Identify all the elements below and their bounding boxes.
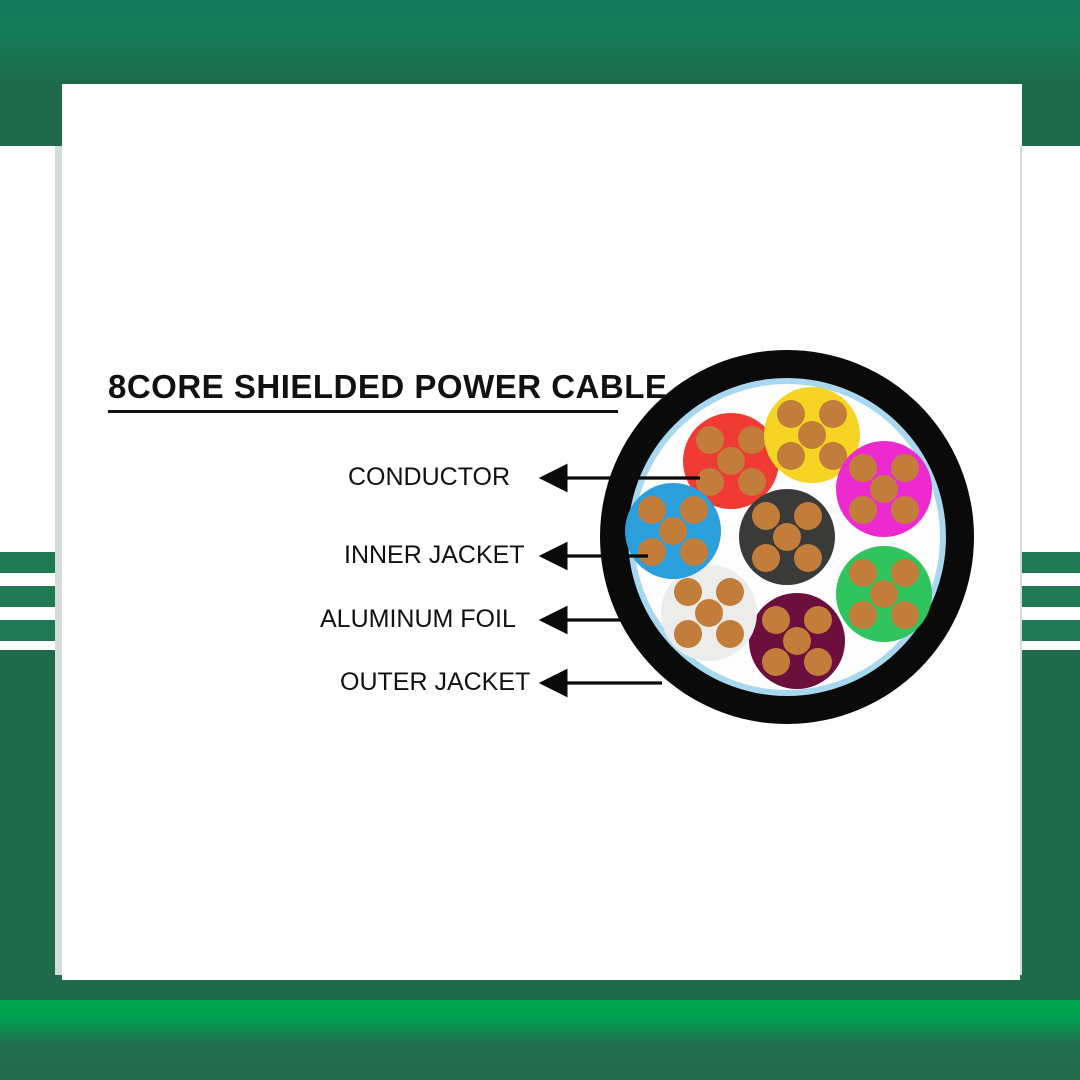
callout-arrows (0, 0, 1080, 1080)
arrow-lines (542, 478, 700, 683)
